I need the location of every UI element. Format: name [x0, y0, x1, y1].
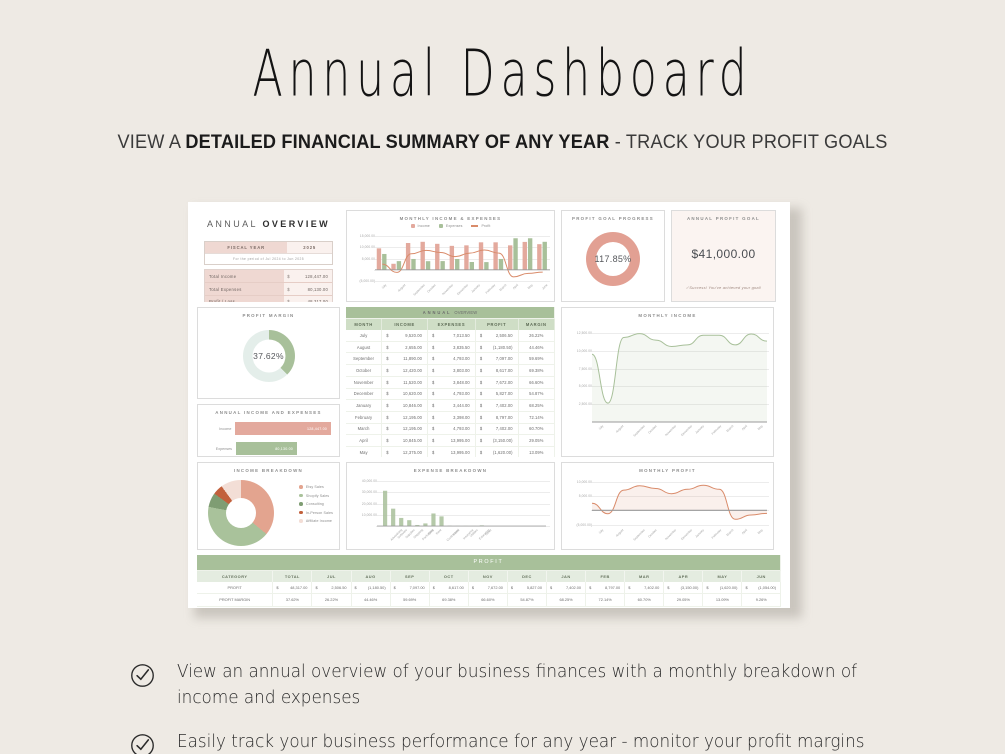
cell-income: $11,890.00: [382, 353, 428, 365]
column-header: MONTH: [346, 318, 382, 330]
bullet-text: View an annual overview of your business…: [177, 660, 881, 712]
table-row: March$12,195.00$4,793.00$7,402.0060.70%: [346, 423, 555, 435]
legend-label: In-Person Sales: [306, 511, 333, 515]
bar-value: 128,447.00: [307, 427, 331, 431]
income-bar: 128,447.00: [235, 422, 331, 435]
cell-income: $12,195.00: [382, 423, 428, 435]
profit-table-title-row: PROFIT: [197, 555, 781, 570]
legend-item: Profit: [471, 224, 490, 228]
bar-label: Expenses: [206, 447, 232, 451]
table-row: February$12,195.00$3,398.00$8,797.0072.1…: [346, 411, 555, 423]
profit-margin-gauge: 37.62%: [243, 330, 295, 382]
currency-symbol: $: [287, 287, 290, 292]
chart-monthly-income: MONTHLY INCOME 12,500.0010,000.007,500.0…: [561, 307, 774, 457]
card-annual-income-expenses: ANNUAL INCOME AND EXPENSES Income 128,44…: [197, 404, 340, 457]
cell-margin: 69.38%: [518, 365, 554, 377]
cell-income: $10,620.00: [382, 388, 428, 400]
legend-item: In-Person Sales: [299, 511, 333, 515]
cell-margin: 44.46%: [518, 341, 554, 353]
expense-bar: 80,130.00: [236, 442, 297, 455]
table-row: October$12,420.00$3,803.00$8,617.0069.38…: [346, 365, 555, 377]
cell-expenses: $4,793.00: [428, 353, 476, 365]
chart-title: MONTHLY INCOME & EXPENSES: [347, 211, 554, 221]
cell-value: 37.62%: [273, 594, 312, 606]
kpi-label: Total Expenses: [205, 283, 284, 295]
card-title: ANNUAL INCOME AND EXPENSES: [198, 405, 339, 415]
kpi-label: Total Income: [205, 270, 284, 282]
cell-expenses: $7,013.50: [428, 330, 476, 341]
legend-label: Shopify Sales: [306, 494, 329, 498]
cell-margin: 26.22%: [518, 330, 554, 341]
cell-expenses: $3,835.50: [428, 341, 476, 353]
chart-plot-area: 40,000.0030,000.0020,000.0010,000.00-Adv…: [347, 474, 555, 550]
cell-value: 29.05%: [664, 594, 703, 606]
cell-profit: $(1,180.50): [475, 341, 518, 353]
cell-value: 69.38%: [429, 594, 468, 606]
cell-value: $7,402.00: [625, 582, 664, 594]
legend-label: Profit: [481, 224, 490, 228]
cell-value: $(3,150.00): [664, 582, 703, 594]
table-header-row: MONTHINCOMEEXPENSESPROFITMARGIN: [346, 318, 555, 330]
profit-table: PROFIT CATEGORYTOTALJULAUGSEPOCTNOVDECJA…: [197, 555, 781, 607]
legend-item: Consulting: [299, 502, 333, 506]
cell-income: $2,655.00: [382, 341, 428, 353]
legend-swatch: [299, 494, 303, 498]
column-header: AUG: [351, 570, 390, 582]
overview-heading-bold: OVERVIEW: [262, 219, 330, 229]
chart-title: MONTHLY INCOME: [562, 308, 773, 318]
cell-expenses: $4,793.00: [428, 388, 476, 400]
column-header: OCT: [429, 570, 468, 582]
table-title-bold: ANNUAL: [423, 310, 455, 315]
poster-page: Annual Dashboard VIEW A DETAILED FINANCI…: [0, 42, 1005, 754]
legend-swatch: [299, 485, 303, 489]
cell-profit: $7,672.00: [475, 376, 518, 388]
kpi-value: $48,317.00: [284, 296, 332, 302]
legend-label: Affiliate Income: [306, 519, 332, 523]
cell-value: $5,827.00: [507, 582, 546, 594]
fiscal-year-box: FISCAL YEAR 2025 For the period of Jul 2…: [204, 241, 333, 265]
chart-svg: [347, 233, 555, 301]
dashboard-preview: ANNUAL OVERVIEW FISCAL YEAR 2025 For the…: [188, 202, 796, 612]
cell-profit: $8,617.00: [475, 365, 518, 377]
column-header: CATEGORY: [197, 570, 273, 582]
cell-value: 26.22%: [312, 594, 351, 606]
column-header: EXPENSES: [428, 318, 476, 330]
column-header: DEC: [507, 570, 546, 582]
legend-item: Shopify Sales: [299, 494, 333, 498]
column-header: NOV: [468, 570, 507, 582]
table-title-row: ANNUAL OVERVIEW: [346, 307, 555, 318]
kpi-amount: 128,447.00: [305, 274, 328, 279]
cell-expenses: $3,803.00: [428, 365, 476, 377]
cell-month: December: [346, 388, 382, 400]
table-row: May$12,375.00$13,995.00$(1,620.00)13.09%: [346, 446, 555, 457]
cell-income: $10,845.00: [382, 435, 428, 447]
overview-table: ANNUAL OVERVIEW MONTHINCOMEEXPENSESPROFI…: [346, 307, 555, 457]
cell-profit: $(1,620.00): [475, 446, 518, 457]
profit-table-title: PROFIT: [197, 555, 781, 570]
kpi-row: Profit / Loss$48,317.00: [205, 296, 332, 302]
cell-margin: 66.60%: [518, 376, 554, 388]
cell-category: PROFIT: [197, 582, 273, 594]
column-header: FEB: [586, 570, 625, 582]
cell-income: $12,375.00: [382, 446, 428, 457]
fiscal-period-note: For the period of Jul 2024 to Jun 2025: [205, 253, 332, 264]
cell-profit: $(3,150.00): [475, 435, 518, 447]
chart-legend: Income Expenses Profit: [347, 224, 554, 233]
cell-value: 13.09%: [703, 594, 742, 606]
legend-item: Income: [411, 224, 430, 228]
table-row: January$10,846.00$3,444.00$7,402.0068.25…: [346, 400, 555, 412]
kpi-amount: 48,317.00: [308, 299, 328, 302]
legend-swatch-expenses: [439, 224, 443, 228]
cell-value: 9.26%: [742, 594, 781, 606]
x-axis-label: June: [773, 528, 774, 536]
cell-value: 72.14%: [586, 594, 625, 606]
chart-plot-area: 12,500.0010,000.007,500.005,000.002,500.…: [562, 320, 774, 456]
legend-label: Income: [418, 224, 430, 228]
cell-value: $(1,620.00): [703, 582, 742, 594]
cell-month: May: [346, 446, 382, 457]
cell-month: November: [346, 376, 382, 388]
chart-monthly-profit: MONTHLY PROFIT 10,000.005,000.00-(5,000.…: [561, 462, 774, 550]
expense-bar-row: Expenses 80,130.00: [206, 442, 331, 455]
cell-income: $9,520.00: [382, 330, 428, 341]
cell-value: $(1,180.50): [351, 582, 390, 594]
cell-margin: 54.87%: [518, 388, 554, 400]
table-row: September$11,890.00$4,793.00$7,097.0059.…: [346, 353, 555, 365]
feature-bullets: View an annual overview of your business…: [130, 660, 910, 754]
table-row: April$10,845.00$13,995.00$(3,150.00)29.0…: [346, 435, 555, 447]
income-bar-row: Income 128,447.00: [206, 422, 331, 435]
cell-profit: $5,827.00: [475, 388, 518, 400]
profit-goal-message: ✓Success! You've achieved your goal!: [672, 285, 775, 290]
legend-item: Etsy Sales: [299, 485, 333, 489]
cell-value: $7,097.00: [390, 582, 429, 594]
cell-month: January: [346, 400, 382, 412]
bullet-item: Easily track your business performance f…: [130, 730, 910, 754]
annual-overview-heading: ANNUAL OVERVIEW: [197, 210, 340, 229]
gauge-value: 117.85%: [595, 254, 632, 264]
table-title: ANNUAL OVERVIEW: [346, 307, 555, 318]
kpi-row: Total Income$128,447.00: [205, 270, 332, 283]
kpi-value: $128,447.00: [284, 270, 332, 282]
card-title: PROFIT MARGIN: [198, 308, 339, 318]
table-row: November$11,520.00$3,848.00$7,672.0066.6…: [346, 376, 555, 388]
cell-expenses: $4,793.00: [428, 423, 476, 435]
kpi-amount: 80,130.00: [308, 287, 328, 292]
table-title-light: OVERVIEW: [454, 310, 477, 315]
column-header: JAN: [547, 570, 586, 582]
gauge-wrapper: 37.62%: [198, 318, 339, 394]
cell-margin: 59.69%: [518, 353, 554, 365]
cell-profit: $8,797.00: [475, 411, 518, 423]
cell-value: $7,402.00: [547, 582, 586, 594]
cell-value: 68.25%: [547, 594, 586, 606]
column-header: MARGIN: [518, 318, 554, 330]
legend-label: Consulting: [306, 502, 324, 506]
column-header: JUN: [742, 570, 781, 582]
annual-overview-summary: ANNUAL OVERVIEW FISCAL YEAR 2025 For the…: [197, 210, 340, 302]
kpi-box: Total Income$128,447.00 Total Expenses$8…: [204, 269, 333, 302]
cell-month: September: [346, 353, 382, 365]
cell-profit: $7,402.00: [475, 423, 518, 435]
cell-margin: 13.09%: [518, 446, 554, 457]
profit-table-header-row: CATEGORYTOTALJULAUGSEPOCTNOVDECJANFEBMAR…: [197, 570, 781, 582]
subtitle-post: - TRACK YOUR PROFIT GOALS: [610, 131, 888, 153]
fiscal-year-label: FISCAL YEAR: [205, 242, 287, 253]
column-header: MAR: [625, 570, 664, 582]
cell-margin: 72.14%: [518, 411, 554, 423]
cell-expenses: $3,444.00: [428, 400, 476, 412]
kpi-row: Total Expenses$80,130.00: [205, 283, 332, 296]
cell-value: 66.60%: [468, 594, 507, 606]
legend-swatch: [299, 511, 303, 515]
cell-value: 59.69%: [390, 594, 429, 606]
card-title: PROFIT GOAL PROGRESS: [562, 211, 664, 221]
cell-income: $10,846.00: [382, 400, 428, 412]
cell-value: $48,317.00: [273, 582, 312, 594]
page-title: Annual Dashboard: [90, 36, 914, 110]
cell-value: $2,506.50: [312, 582, 351, 594]
table-body: July$9,520.00$7,013.50$2,506.5026.22%Aug…: [346, 330, 555, 457]
x-axis-label: June: [773, 424, 774, 432]
bullet-text: Easily track your business performance f…: [177, 730, 881, 754]
dashboard-canvas: ANNUAL OVERVIEW FISCAL YEAR 2025 For the…: [188, 202, 790, 608]
cell-expenses: $13,995.00: [428, 446, 476, 457]
profit-goal-amount[interactable]: $41,000.00: [672, 247, 775, 261]
subtitle-pre: VIEW A: [118, 131, 186, 153]
cell-margin: 68.25%: [518, 400, 554, 412]
cell-month: March: [346, 423, 382, 435]
legend-label: Etsy Sales: [306, 485, 324, 489]
column-header: TOTAL: [273, 570, 312, 582]
column-header: APR: [664, 570, 703, 582]
cell-expenses: $13,995.00: [428, 435, 476, 447]
cell-month: July: [346, 330, 382, 341]
table-row: July$9,520.00$7,013.50$2,506.5026.22%: [346, 330, 555, 341]
legend-swatch-income: [411, 224, 415, 228]
cell-month: April: [346, 435, 382, 447]
legend-swatch: [299, 519, 303, 523]
cell-margin: 60.70%: [518, 423, 554, 435]
currency-symbol: $: [287, 274, 290, 279]
chart-title: MONTHLY PROFIT: [562, 463, 773, 473]
chart-plot-area: 15,000.0010,000.005,000.00-(5,000.00)Jul…: [347, 233, 555, 301]
card-profit-goal-progress: PROFIT GOAL PROGRESS 117.85%: [561, 210, 665, 302]
bullet-item: View an annual overview of your business…: [130, 660, 910, 712]
column-header: INCOME: [382, 318, 428, 330]
legend-item: Expenses: [439, 224, 463, 228]
chart-expense-breakdown: EXPENSE BREAKDOWN 40,000.0030,000.0020,0…: [346, 462, 555, 550]
check-circle-icon: [130, 663, 155, 688]
legend-swatch-profit: [471, 225, 478, 227]
cell-profit: $7,097.00: [475, 353, 518, 365]
cell-value: 44.46%: [351, 594, 390, 606]
profit-goal-gauge: 117.85%: [586, 232, 640, 286]
column-header: MAY: [703, 570, 742, 582]
card-title: ANNUAL PROFIT GOAL: [672, 211, 775, 221]
table-row: PROFIT$48,317.00$2,506.50$(1,180.50)$7,0…: [197, 582, 781, 594]
cell-margin: 29.05%: [518, 435, 554, 447]
kpi-value: $80,130.00: [284, 283, 332, 295]
cell-profit: $7,402.00: [475, 400, 518, 412]
cell-value: $(1,054.00): [742, 582, 781, 594]
cell-value: $8,797.00: [586, 582, 625, 594]
gauge-wrapper: 117.85%: [562, 221, 664, 297]
chart-title: EXPENSE BREAKDOWN: [347, 463, 554, 473]
column-header: JUL: [312, 570, 351, 582]
cell-value: $7,672.00: [468, 582, 507, 594]
income-pie: [208, 480, 274, 546]
page-subtitle: VIEW A DETAILED FINANCIAL SUMMARY OF ANY…: [35, 131, 970, 154]
legend-label: Expenses: [446, 224, 463, 228]
cell-income: $12,420.00: [382, 365, 428, 377]
cell-expenses: $3,398.00: [428, 411, 476, 423]
pie-center: [226, 498, 256, 528]
cell-expenses: $3,848.00: [428, 376, 476, 388]
chart-title: INCOME BREAKDOWN: [198, 463, 339, 473]
legend-item: Affiliate Income: [299, 519, 333, 523]
legend-swatch: [299, 502, 303, 506]
cell-income: $11,520.00: [382, 376, 428, 388]
cell-month: February: [346, 411, 382, 423]
currency-symbol: $: [287, 299, 290, 302]
cell-value: 60.70%: [625, 594, 664, 606]
column-header: PROFIT: [475, 318, 518, 330]
fiscal-year-row: FISCAL YEAR 2025: [205, 242, 332, 253]
cell-value: $8,617.00: [429, 582, 468, 594]
chart-monthly-income-expenses: MONTHLY INCOME & EXPENSES Income Expense…: [346, 210, 555, 302]
cell-profit: $2,506.50: [475, 330, 518, 341]
column-header: SEP: [390, 570, 429, 582]
chart-income-breakdown: INCOME BREAKDOWN Etsy SalesShopify Sales…: [197, 462, 340, 550]
card-annual-profit-goal: ANNUAL PROFIT GOAL $41,000.00 ✓Success! …: [671, 210, 776, 302]
pie-legend: Etsy SalesShopify SalesConsultingIn-Pers…: [299, 485, 333, 528]
cell-income: $12,195.00: [382, 411, 428, 423]
cell-month: August: [346, 341, 382, 353]
annual-overview-table: ANNUAL OVERVIEW MONTHINCOMEEXPENSESPROFI…: [346, 307, 555, 457]
cell-value: 54.87%: [507, 594, 546, 606]
table-row: December$10,620.00$4,793.00$5,827.0054.8…: [346, 388, 555, 400]
check-circle-icon: [130, 733, 155, 754]
table-row: PROFIT MARGIN37.62%26.22%44.46%59.69%69.…: [197, 594, 781, 606]
kpi-label: Profit / Loss: [205, 296, 284, 302]
bar-value: 80,130.00: [275, 447, 297, 451]
overview-heading-light: ANNUAL: [207, 219, 262, 229]
table-row: August$2,655.00$3,835.50$(1,180.50)44.46…: [346, 341, 555, 353]
cell-month: October: [346, 365, 382, 377]
bar-label: Income: [206, 427, 231, 431]
profit-table-body: PROFIT$48,317.00$2,506.50$(1,180.50)$7,0…: [197, 582, 781, 606]
card-profit-margin: PROFIT MARGIN 37.62%: [197, 307, 340, 399]
subtitle-bold: DETAILED FINANCIAL SUMMARY OF ANY YEAR: [185, 131, 609, 153]
gauge-value: 37.62%: [253, 351, 284, 361]
cell-category: PROFIT MARGIN: [197, 594, 273, 606]
chart-plot-area: 10,000.005,000.00-(5,000.00)JulyAugustSe…: [562, 474, 774, 550]
fiscal-year-value[interactable]: 2025: [287, 242, 332, 253]
